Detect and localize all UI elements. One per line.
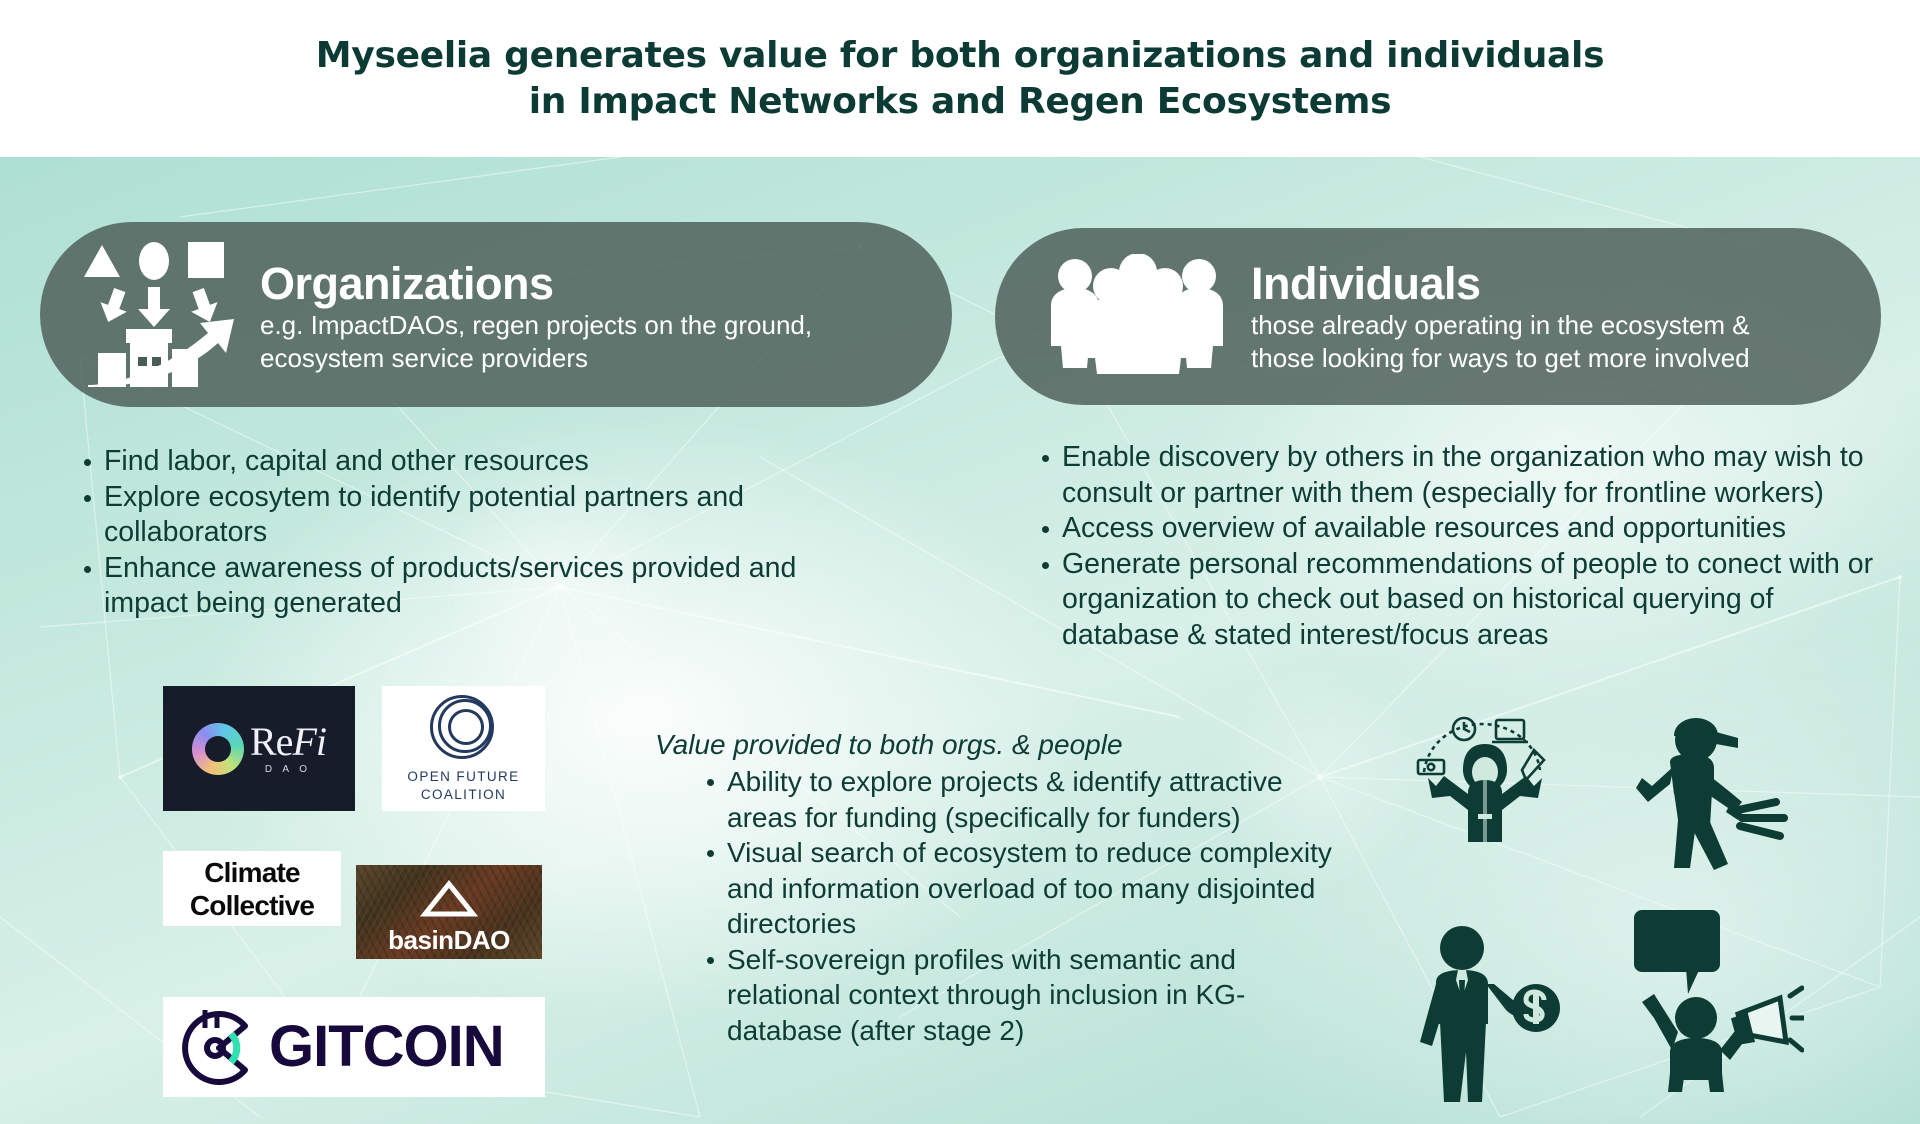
individuals-header-pill: Individuals those already operating in t…: [995, 228, 1881, 405]
ofc-line-1: OPEN FUTURE: [407, 768, 519, 786]
list-item: Self-sovereign profiles with semantic an…: [697, 942, 1355, 1049]
refi-dao-logo: ReFi D A O: [163, 686, 355, 811]
individuals-text-block: Individuals those already operating in t…: [1251, 259, 1750, 375]
list-item: Access overview of available resources a…: [1030, 511, 1890, 547]
open-future-coalition-rings-icon: [428, 693, 500, 765]
slide-canvas: Myseelia generates value for both organi…: [0, 0, 1920, 1124]
organization-growth-icon: [80, 237, 240, 392]
list-item: Enable discovery by others in the organi…: [1030, 440, 1890, 511]
individuals-heading: Individuals: [1251, 259, 1750, 309]
list-item: Explore ecosytem to identify potential p…: [72, 480, 832, 551]
title-line-2: in Impact Networks and Regen Ecosystems: [529, 79, 1392, 125]
list-item: Visual search of ecosystem to reduce com…: [697, 835, 1355, 942]
shared-value-heading: Value provided to both orgs. & people: [655, 728, 1355, 762]
individuals-bullet-list: Enable discovery by others in the organi…: [1030, 440, 1890, 653]
organizations-header-pill: Organizations e.g. ImpactDAOs, regen pro…: [40, 222, 952, 407]
open-future-coalition-logo: OPEN FUTURE COALITION: [382, 686, 545, 811]
refi-wordmark-group: ReFi D A O: [250, 722, 326, 775]
individuals-subtitle-line-1: those already operating in the ecosystem…: [1251, 309, 1750, 342]
businessman-with-money-icon: [1418, 924, 1568, 1109]
gitcoin-wordmark: GITCOIN: [269, 1018, 504, 1076]
organizations-bullet-list: Find labor, capital and other resources …: [72, 444, 832, 622]
organizations-subtitle-line-2: ecosystem service providers: [260, 342, 812, 375]
list-item: Generate personal recommendations of peo…: [1030, 547, 1890, 654]
people-group-icon: [1047, 254, 1237, 379]
refi-wordmark: ReFi: [250, 722, 326, 762]
basin-triangle-icon: [420, 878, 478, 923]
shared-value-block: Value provided to both orgs. & people Ab…: [655, 728, 1355, 1048]
list-item: Find labor, capital and other resources: [72, 444, 832, 480]
farmer-with-pitchfork-icon: [1634, 716, 1794, 881]
refi-ring-icon: [192, 723, 244, 775]
gitcoin-mark-icon: [175, 1002, 261, 1093]
refi-dao-subtext: D A O: [250, 764, 326, 775]
slide-title: Myseelia generates value for both organi…: [0, 0, 1920, 157]
organizations-text-block: Organizations e.g. ImpactDAOs, regen pro…: [260, 255, 812, 375]
person-with-megaphone-icon: [1634, 910, 1804, 1100]
open-future-coalition-wordmark: OPEN FUTURE COALITION: [407, 768, 519, 804]
climate-line-2: Collective: [190, 889, 314, 922]
climate-line-1: Climate: [204, 856, 300, 889]
title-line-1: Myseelia generates value for both organi…: [316, 33, 1604, 79]
illustration-group: [1410, 712, 1810, 1112]
basindao-logo: basinDAO: [356, 865, 542, 959]
gitcoin-logo: GITCOIN: [163, 997, 545, 1097]
organizations-heading: Organizations: [260, 259, 812, 309]
ofc-line-2: COALITION: [407, 786, 519, 804]
woman-juggling-resources-icon: [1410, 712, 1560, 867]
climate-collective-logo: Climate Collective: [163, 851, 341, 926]
list-item: Enhance awareness of products/services p…: [72, 551, 832, 622]
list-item: Ability to explore projects & identify a…: [697, 764, 1355, 835]
individuals-subtitle-line-2: those looking for ways to get more invol…: [1251, 342, 1750, 375]
basindao-wordmark: basinDAO: [388, 925, 510, 955]
organizations-subtitle-line-1: e.g. ImpactDAOs, regen projects on the g…: [260, 309, 812, 342]
